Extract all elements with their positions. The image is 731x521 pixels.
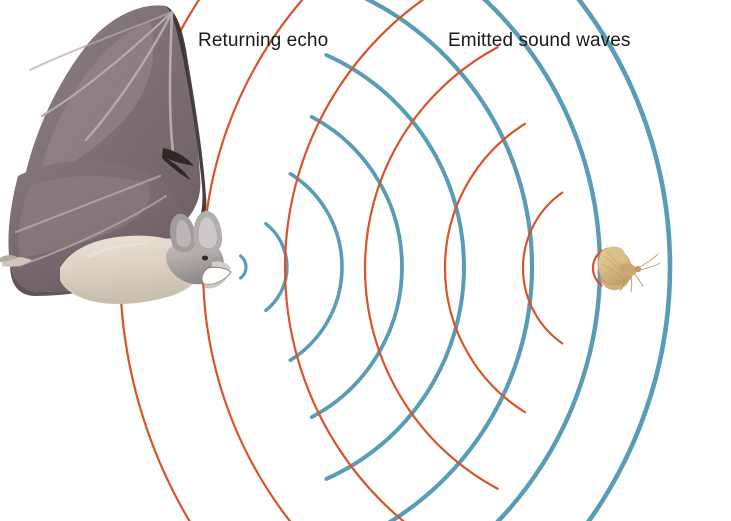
moth-body [619, 263, 637, 276]
bat-eye [202, 256, 208, 261]
emitted-wave-arc-1 [241, 256, 246, 278]
moth-antennae [640, 254, 660, 270]
label-emitted-sound-waves: Emitted sound waves [448, 30, 631, 52]
bat-open-mouth [202, 267, 231, 284]
echolocation-figure: Returning echo Emitted sound waves [0, 0, 731, 521]
bat-illustration [0, 5, 231, 304]
emitted-wave-arc-2 [266, 224, 287, 311]
label-returning-echo: Returning echo [198, 30, 328, 52]
emitted-wave-arc-5 [326, 55, 464, 479]
echo-wave-arc-4 [365, 47, 498, 488]
diagram-canvas [0, 0, 731, 521]
emitted-wave-arc-3 [290, 174, 342, 361]
moth-illustration [598, 247, 660, 292]
